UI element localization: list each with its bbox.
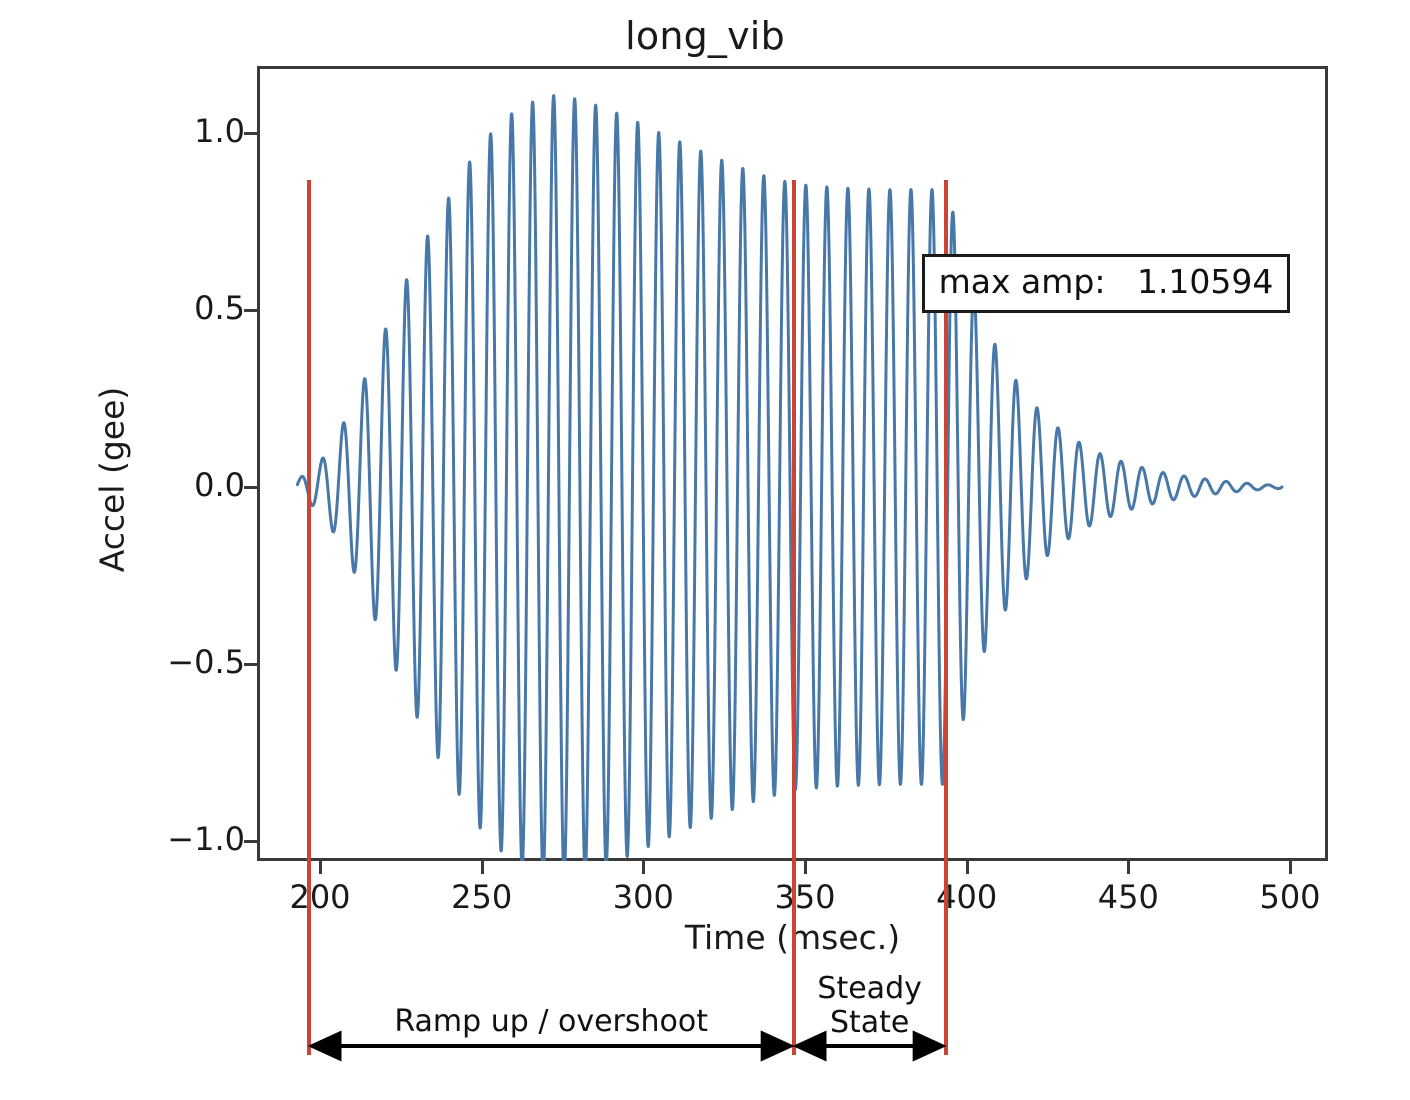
y-tick-label: −0.5 <box>115 643 245 681</box>
ramp-start-vline <box>307 180 311 1055</box>
chart-title: long_vib <box>0 14 1410 58</box>
x-tick-label: 200 <box>260 878 380 916</box>
x-tickmark <box>1289 861 1292 874</box>
y-tick-label: 0.5 <box>115 289 245 327</box>
x-tickmark <box>804 861 807 874</box>
x-tick-label: 500 <box>1230 878 1350 916</box>
x-tick-label: 300 <box>583 878 703 916</box>
x-tick-label: 450 <box>1068 878 1188 916</box>
x-tick-label: 250 <box>422 878 542 916</box>
y-tickmark <box>244 840 257 843</box>
y-tick-label: 0.0 <box>115 466 245 504</box>
figure-canvas: long_vib Accel (gee) Time (msec.) 1.00.5… <box>0 0 1410 1100</box>
x-tickmark <box>319 861 322 874</box>
x-tickmark <box>1127 861 1130 874</box>
steady-state-start-vline <box>792 180 796 1055</box>
steady-state-label-line1: Steady <box>774 972 966 1006</box>
y-tickmark <box>244 663 257 666</box>
x-tickmark <box>966 861 969 874</box>
x-tickmark <box>481 861 484 874</box>
y-tickmark <box>244 486 257 489</box>
x-tick-label: 400 <box>907 878 1027 916</box>
x-tick-label: 350 <box>745 878 865 916</box>
steady-state-label-line2: State <box>774 1006 966 1040</box>
waveform-line <box>297 96 1282 861</box>
ramp-up-span-label: Ramp up / overshoot <box>309 1005 794 1039</box>
x-tickmark <box>642 861 645 874</box>
steady-state-span-label: Steady State <box>774 972 966 1039</box>
max-amp-annotation: max amp: 1.10594 <box>922 254 1291 313</box>
y-tickmark <box>244 132 257 135</box>
y-tick-label: −1.0 <box>115 820 245 858</box>
y-tickmark <box>244 309 257 312</box>
y-tick-label: 1.0 <box>115 112 245 150</box>
